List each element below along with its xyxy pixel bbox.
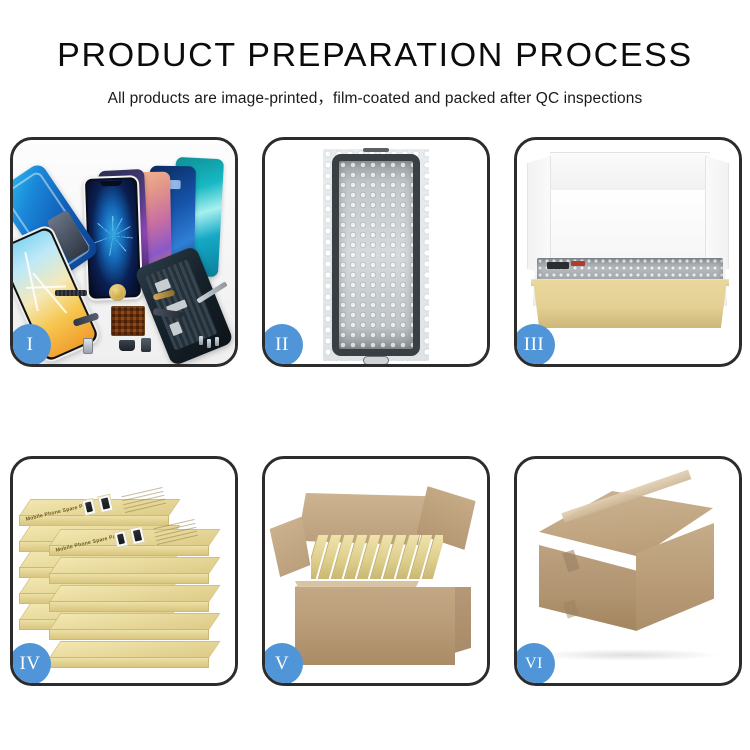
sim-tray-part [83, 338, 93, 354]
header: PRODUCT PREPARATION PROCESS All products… [0, 0, 750, 108]
box-lid-back [539, 152, 721, 196]
bubble-wrapped-screen-illustration [265, 140, 487, 364]
step-badge-2: II [262, 324, 303, 366]
step-badge-6: VI [514, 643, 555, 685]
step-panel-1: I [10, 137, 238, 367]
retail-box [49, 585, 209, 611]
step-panel-6: VI [514, 456, 742, 686]
retail-box [49, 557, 209, 583]
sealed-carton-illustration [517, 459, 739, 683]
retail-box [49, 613, 209, 639]
carton-shadow [535, 649, 721, 661]
battery-connector-part [141, 338, 151, 352]
step-panel-4: Mobile Phone Spare Parts Mobile Phone Sp… [10, 456, 238, 686]
carton-front-panel [295, 587, 455, 665]
speaker-part [119, 340, 135, 351]
step-badge-3: III [514, 324, 555, 366]
page-subtitle: All products are image-printed，film-coat… [0, 86, 750, 108]
bubble-wrap-overlay [339, 161, 413, 349]
phone-screen-glass [332, 154, 420, 356]
screen-label-red [571, 261, 585, 266]
screen-label [547, 262, 569, 269]
box-stack: Mobile Phone Spare Parts Mobile Phone Sp… [19, 485, 235, 663]
home-button-cutout [363, 356, 389, 364]
gold-coil-part [109, 284, 126, 301]
step-badge-1: I [10, 324, 51, 366]
step-panel-5: V [262, 456, 490, 686]
stacked-boxes-illustration: Mobile Phone Spare Parts Mobile Phone Sp… [13, 459, 235, 683]
screws-group [199, 336, 225, 352]
boxed-unit-illustration [517, 140, 739, 364]
process-steps-grid: I II [10, 137, 742, 684]
carton-contents-boxes [311, 535, 443, 579]
connector-grid-part [111, 306, 145, 336]
flex-cable-part [55, 290, 87, 296]
earpiece-cutout [363, 148, 389, 152]
box-print-window [97, 494, 113, 513]
step-badge-4: IV [10, 643, 51, 685]
box-tray-front [529, 280, 731, 328]
product-range-illustration [13, 140, 235, 364]
step-panel-3: III [514, 137, 742, 367]
step-panel-2: II [262, 137, 490, 367]
page-title: PRODUCT PREPARATION PROCESS [0, 36, 750, 74]
product-preparation-infographic: PRODUCT PREPARATION PROCESS All products… [0, 0, 750, 750]
open-carton-illustration [265, 459, 487, 683]
retail-box [49, 641, 209, 667]
step-badge-5: V [262, 643, 303, 685]
carton-left-panel [539, 545, 637, 631]
